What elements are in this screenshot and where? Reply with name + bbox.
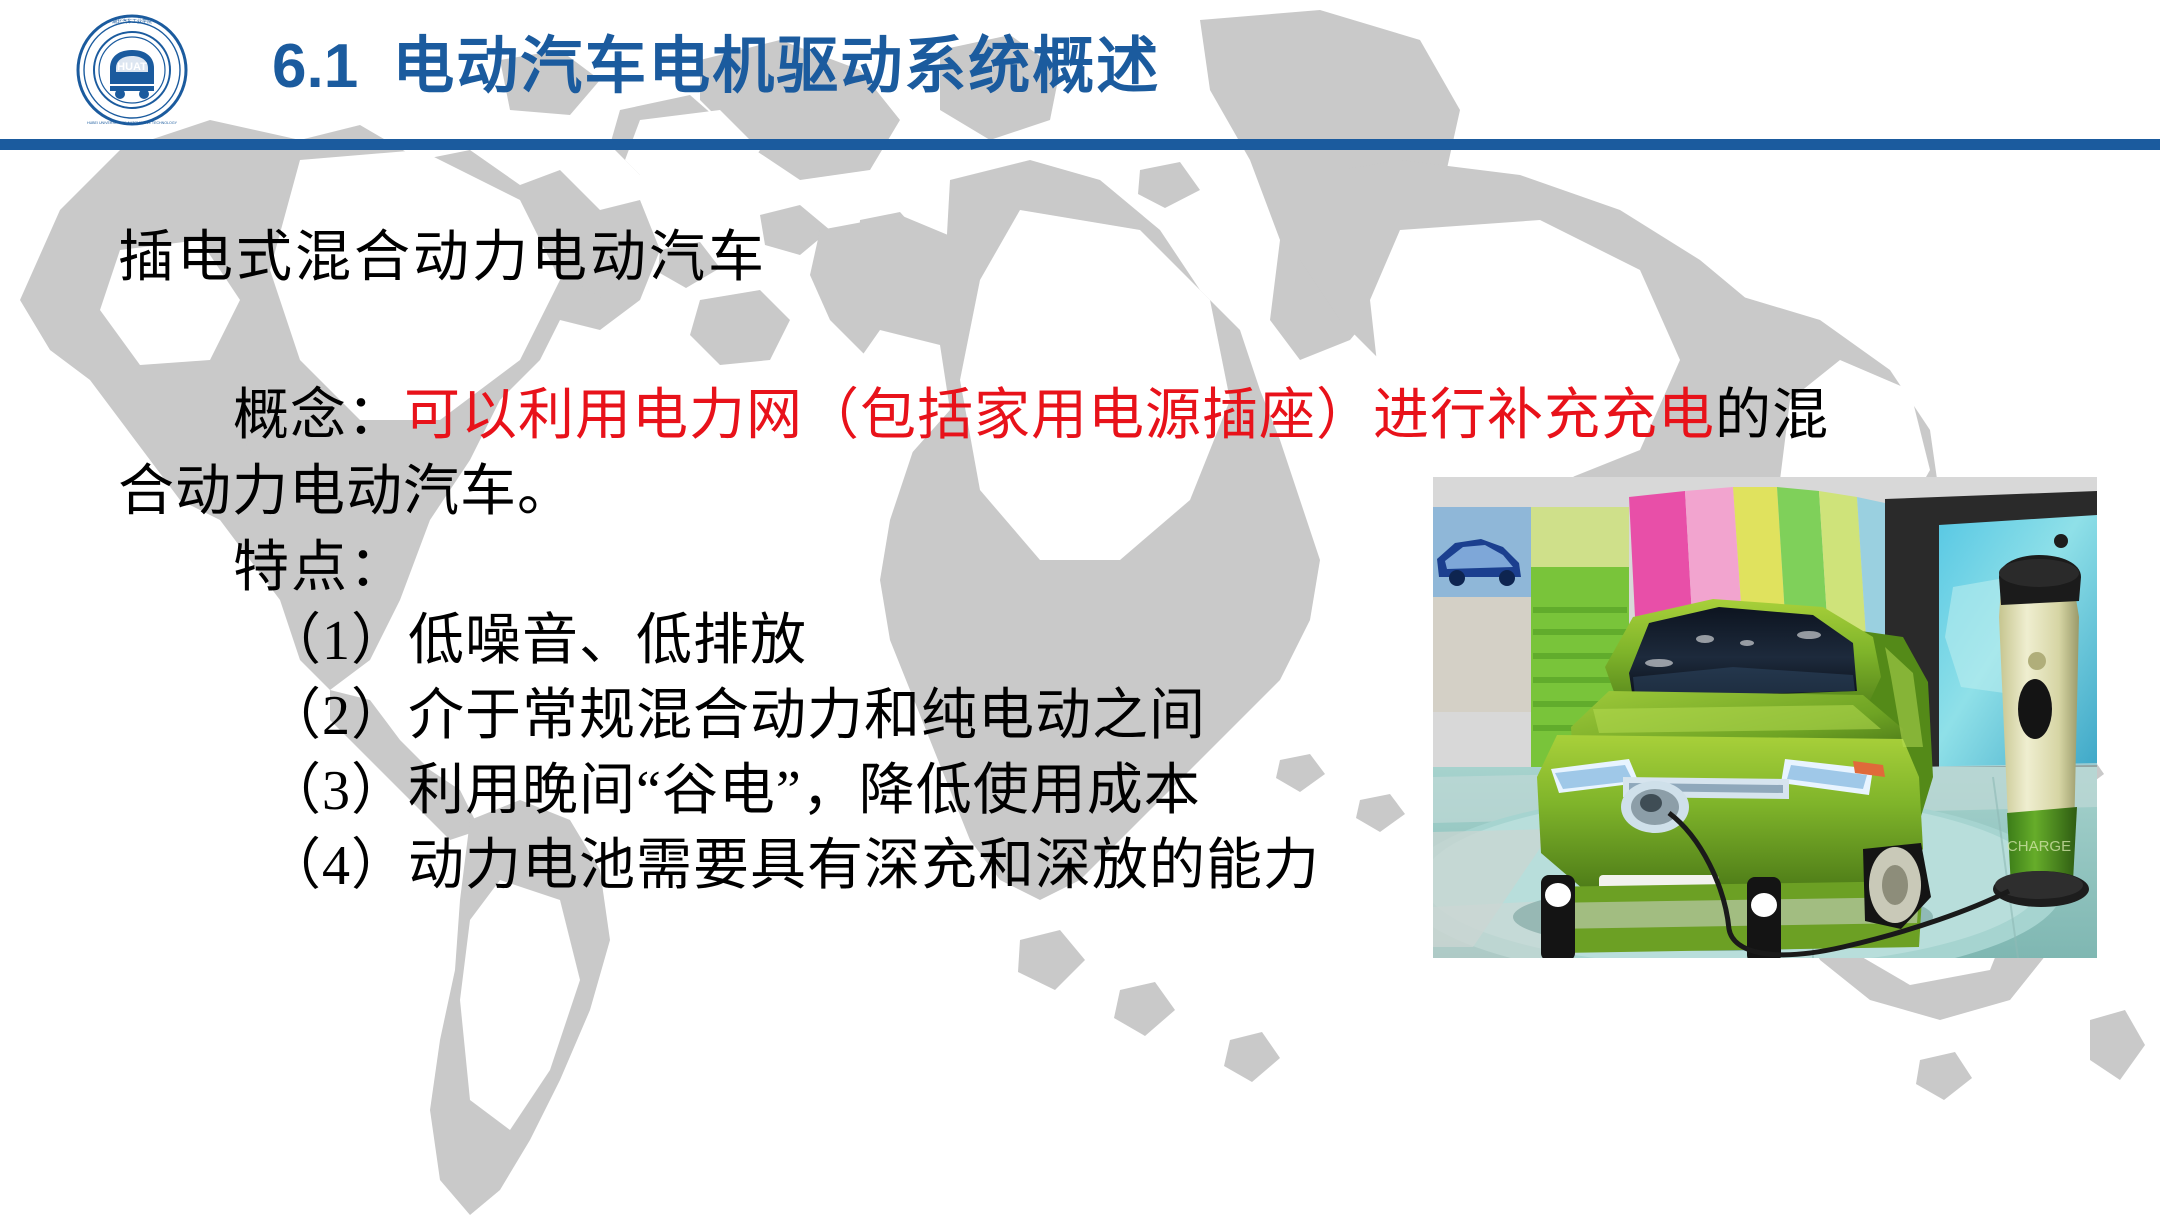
concept-line-2: 合动力电动汽车。 [118,446,574,527]
features-label: 特点： [233,522,407,603]
logo-acronym: HUAT [117,61,147,73]
feature-item: （4）动力电池需要具有深充和深放的能力 [265,820,1320,901]
feature-item: （1）低噪音、低排放 [265,595,807,676]
header-divider-rule [0,139,2160,150]
page-title: 6.1电动汽车电机驱动系统概述 [272,30,1160,104]
huat-seal-logo: HUAT 湖北汽车工业学院 HUBEI UNIVERSITY OF AUTOMO… [76,6,188,134]
section-title: 电动汽车电机驱动系统概述 [392,32,1160,101]
feature-item: （3）利用晚间“谷电”，降低使用成本 [265,745,1201,826]
feature-item: （2）介于常规混合动力和纯电动之间 [265,670,1206,751]
section-number: 6.1 [272,32,358,101]
concept-label: 概念： [233,385,404,447]
charging-post-label: CHARGE [2007,838,2071,855]
body-headline: 插电式混合动力电动汽车 [118,212,767,293]
svg-text:HUBEI UNIVERSITY OF AUTOMOTIVE: HUBEI UNIVERSITY OF AUTOMOTIVE TECHNOLOG… [87,121,178,125]
concept-tail: 的混 [1715,385,1829,447]
plug-in-hybrid-car-photo: Green-e CHARGE [1433,477,2097,958]
concept-line-1: 概念：可以利用电力网（包括家用电源插座）进行补充充电的混 [118,370,1829,451]
svg-text:湖北汽车工业学院: 湖北汽车工业学院 [112,18,152,25]
slide-canvas: HUAT 湖北汽车工业学院 HUBEI UNIVERSITY OF AUTOMO… [0,0,2160,1215]
concept-highlight: 可以利用电力网（包括家用电源插座）进行补充充电 [404,385,1715,447]
